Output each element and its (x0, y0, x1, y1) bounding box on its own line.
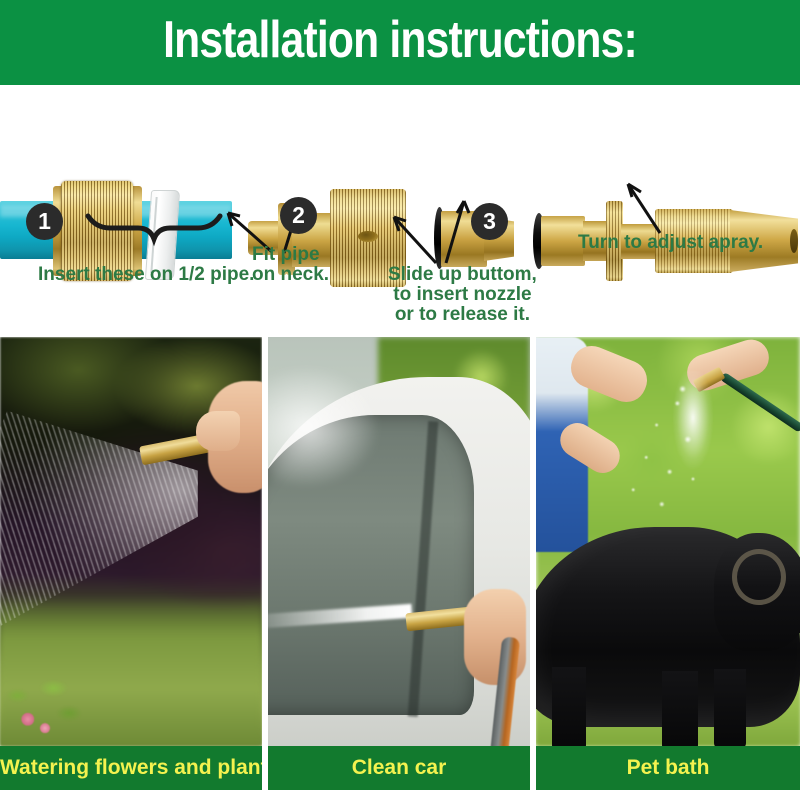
photo-watering-flowers (0, 337, 262, 746)
dog-collar (732, 549, 786, 605)
step-label-3: Slide up buttom, to insert nozzle or to … (388, 265, 537, 325)
panel-watering-flowers: Watering flowers and plants (0, 337, 262, 800)
panel-caption: Clean car (268, 746, 530, 790)
panel-clean-car: Clean car (268, 337, 530, 800)
panel-caption: Watering flowers and plants (0, 746, 262, 790)
dog-leg (662, 671, 698, 746)
water-splash (602, 371, 732, 551)
use-case-panels: Watering flowers and plants Clean car (0, 337, 800, 800)
panel-pet-bath: Pet bath (536, 337, 800, 800)
step-label-2: Fit pipe on neck. (252, 245, 329, 285)
step-badge-3: 3 (471, 203, 508, 240)
fingers (196, 411, 240, 451)
step-badge-2: 2 (280, 197, 317, 234)
dog-leg (714, 669, 746, 746)
annotation-turn-to-adjust: Turn to adjust apray. (578, 233, 763, 253)
dog-leg (552, 667, 586, 746)
installation-diagram: 1 2 3 Insert these on 1/2 pipe. Fit pipe… (0, 85, 800, 333)
header-banner: Installation instructions: (0, 0, 800, 85)
step-badge-1: 1 (26, 203, 63, 240)
pink-flowers (2, 666, 88, 740)
page-title: Installation instructions: (72, 10, 728, 70)
step-label-1: Insert these on 1/2 pipe. (38, 265, 254, 285)
panel-caption: Pet bath (536, 746, 800, 790)
water-mist (268, 367, 378, 487)
photo-clean-car (268, 337, 530, 746)
nozzle-outlet (790, 229, 798, 253)
coupling-dimple (358, 231, 378, 242)
photo-pet-bath (536, 337, 800, 746)
